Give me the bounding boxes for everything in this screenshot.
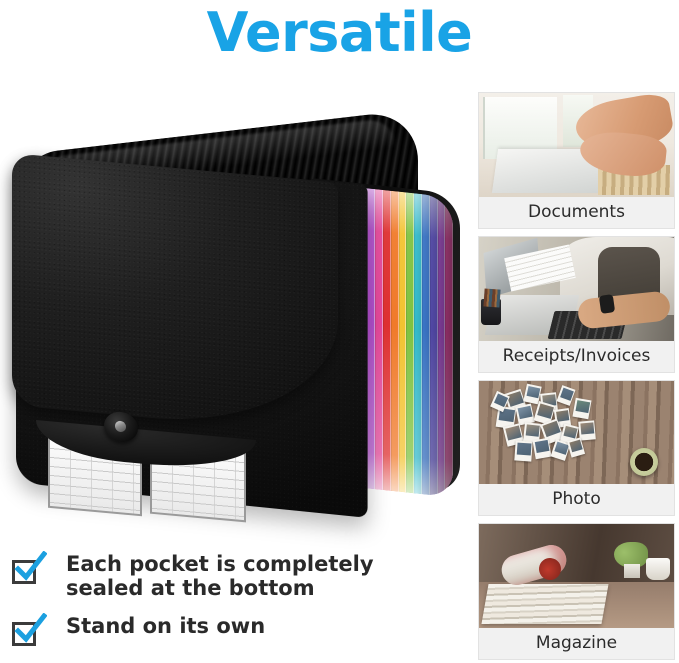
photo-photo [479, 381, 674, 485]
checkbox-checked [12, 556, 40, 584]
use-case-label: Documents [479, 197, 674, 228]
documents-photo [479, 93, 674, 197]
coffee-mug-shape [646, 558, 670, 580]
polaroid-photo [532, 437, 551, 458]
checkmark-icon [13, 551, 47, 585]
use-case-list: Documents Receipts/Invoices Photo [478, 92, 675, 660]
feature-list: Each pocket is completely sealed at the … [12, 552, 452, 660]
use-case-label: Magazine [479, 628, 674, 659]
use-case-card: Magazine [478, 523, 675, 660]
use-case-label: Receipts/Invoices [479, 341, 674, 372]
pocket-divider [367, 188, 375, 489]
feature-item: Each pocket is completely sealed at the … [12, 552, 452, 600]
pocket-divider [383, 190, 391, 491]
feature-text: Stand on its own [66, 614, 265, 638]
polaroid-photo [572, 397, 591, 418]
receipts-photo [479, 237, 674, 341]
checkmark-icon [13, 613, 47, 647]
use-case-card: Documents [478, 92, 675, 229]
feature-item: Stand on its own [12, 614, 452, 646]
pocket-divider [375, 189, 383, 490]
page-title: Versatile [0, 2, 679, 64]
polaroid-photo [578, 420, 596, 440]
use-case-card: Photo [478, 380, 675, 517]
plant-pot-shape [624, 564, 640, 578]
checkbox-checked [12, 618, 40, 646]
pocket-divider [406, 192, 414, 493]
snap-button-core [115, 420, 126, 432]
pens-shape [483, 288, 500, 307]
feature-text: Each pocket is completely sealed at the … [66, 552, 452, 600]
watch-shape [599, 294, 615, 314]
magazine-stack-shape [481, 584, 608, 624]
pocket-divider [430, 195, 438, 496]
pocket-divider [445, 197, 453, 498]
pocket-divider [399, 192, 407, 493]
use-case-card: Receipts/Invoices [478, 236, 675, 373]
polaroid-photo [514, 440, 532, 461]
use-case-label: Photo [479, 484, 674, 515]
polaroid-photo [557, 385, 576, 406]
magazine-photo [479, 524, 674, 628]
pocket-divider [391, 191, 399, 492]
pocket-divider [438, 196, 446, 497]
pocket-divider [414, 193, 422, 494]
product-image [8, 112, 458, 532]
pocket-divider [422, 194, 430, 495]
